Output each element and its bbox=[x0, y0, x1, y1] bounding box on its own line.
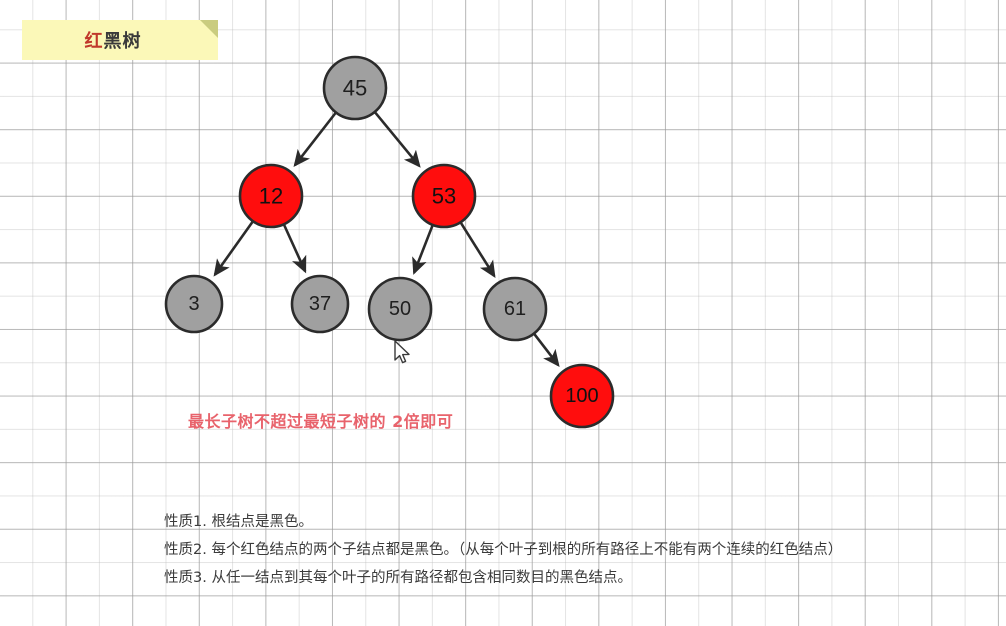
node-circle bbox=[292, 276, 348, 332]
node-label: 3 bbox=[188, 293, 199, 315]
node-circle bbox=[413, 165, 475, 227]
tree-node-37[interactable]: 37 bbox=[292, 276, 348, 332]
node-label: 37 bbox=[309, 293, 331, 315]
node-circle bbox=[484, 278, 546, 340]
property-line-1: 性质1. 根结点是黑色。 bbox=[164, 508, 842, 536]
properties-list: 性质1. 根结点是黑色。 性质2. 每个红色结点的两个子结点都是黑色。（从每个叶… bbox=[164, 508, 842, 592]
node-label: 50 bbox=[389, 298, 411, 320]
node-label: 61 bbox=[504, 298, 526, 320]
node-circle bbox=[166, 276, 222, 332]
node-circle bbox=[240, 165, 302, 227]
node-circle bbox=[551, 365, 613, 427]
tree-node-12[interactable]: 12 bbox=[240, 165, 302, 227]
tree-node-61[interactable]: 61 bbox=[484, 278, 546, 340]
tree-node-53[interactable]: 53 bbox=[413, 165, 475, 227]
tree-edge-n61-n100 bbox=[535, 334, 559, 365]
tree-edge-n45-n12 bbox=[295, 113, 335, 165]
whiteboard-canvas[interactable]: 红黑树 4512533375061100 最长子树不超过最短子树的 2倍即可 性… bbox=[0, 0, 1006, 626]
tree-edge-n12-n37 bbox=[284, 225, 305, 271]
node-circle bbox=[324, 57, 386, 119]
tree-edge-n53-n61 bbox=[461, 223, 494, 276]
tree-edge-n45-n53 bbox=[375, 113, 419, 166]
tree-nodes: 4512533375061100 bbox=[166, 57, 613, 427]
tree-edges bbox=[215, 113, 558, 365]
property-line-3: 性质3. 从任一结点到其每个叶子的所有路径都包含相同数目的黑色结点。 bbox=[164, 564, 842, 592]
mouse-cursor-icon bbox=[394, 340, 412, 366]
tree-node-50[interactable]: 50 bbox=[369, 278, 431, 340]
tree-node-100[interactable]: 100 bbox=[551, 365, 613, 427]
node-label: 53 bbox=[432, 184, 456, 209]
tree-node-3[interactable]: 3 bbox=[166, 276, 222, 332]
page-title-red-char: 红 bbox=[85, 27, 104, 53]
property-line-2: 性质2. 每个红色结点的两个子结点都是黑色。（从每个叶子到根的所有路径上不能有两… bbox=[164, 536, 842, 564]
page-title-rest: 黑树 bbox=[104, 27, 142, 53]
tree-edge-n12-n3 bbox=[215, 222, 253, 275]
node-label: 100 bbox=[565, 385, 598, 407]
node-label: 45 bbox=[343, 76, 367, 101]
page-title: 红黑树 bbox=[22, 20, 218, 60]
tree-edge-n53-n50 bbox=[414, 226, 432, 273]
node-circle bbox=[369, 278, 431, 340]
tree-node-45[interactable]: 45 bbox=[324, 57, 386, 119]
title-sticky-note: 红黑树 bbox=[22, 20, 218, 60]
annotation-text: 最长子树不超过最短子树的 2倍即可 bbox=[188, 408, 453, 432]
node-label: 12 bbox=[259, 184, 283, 209]
